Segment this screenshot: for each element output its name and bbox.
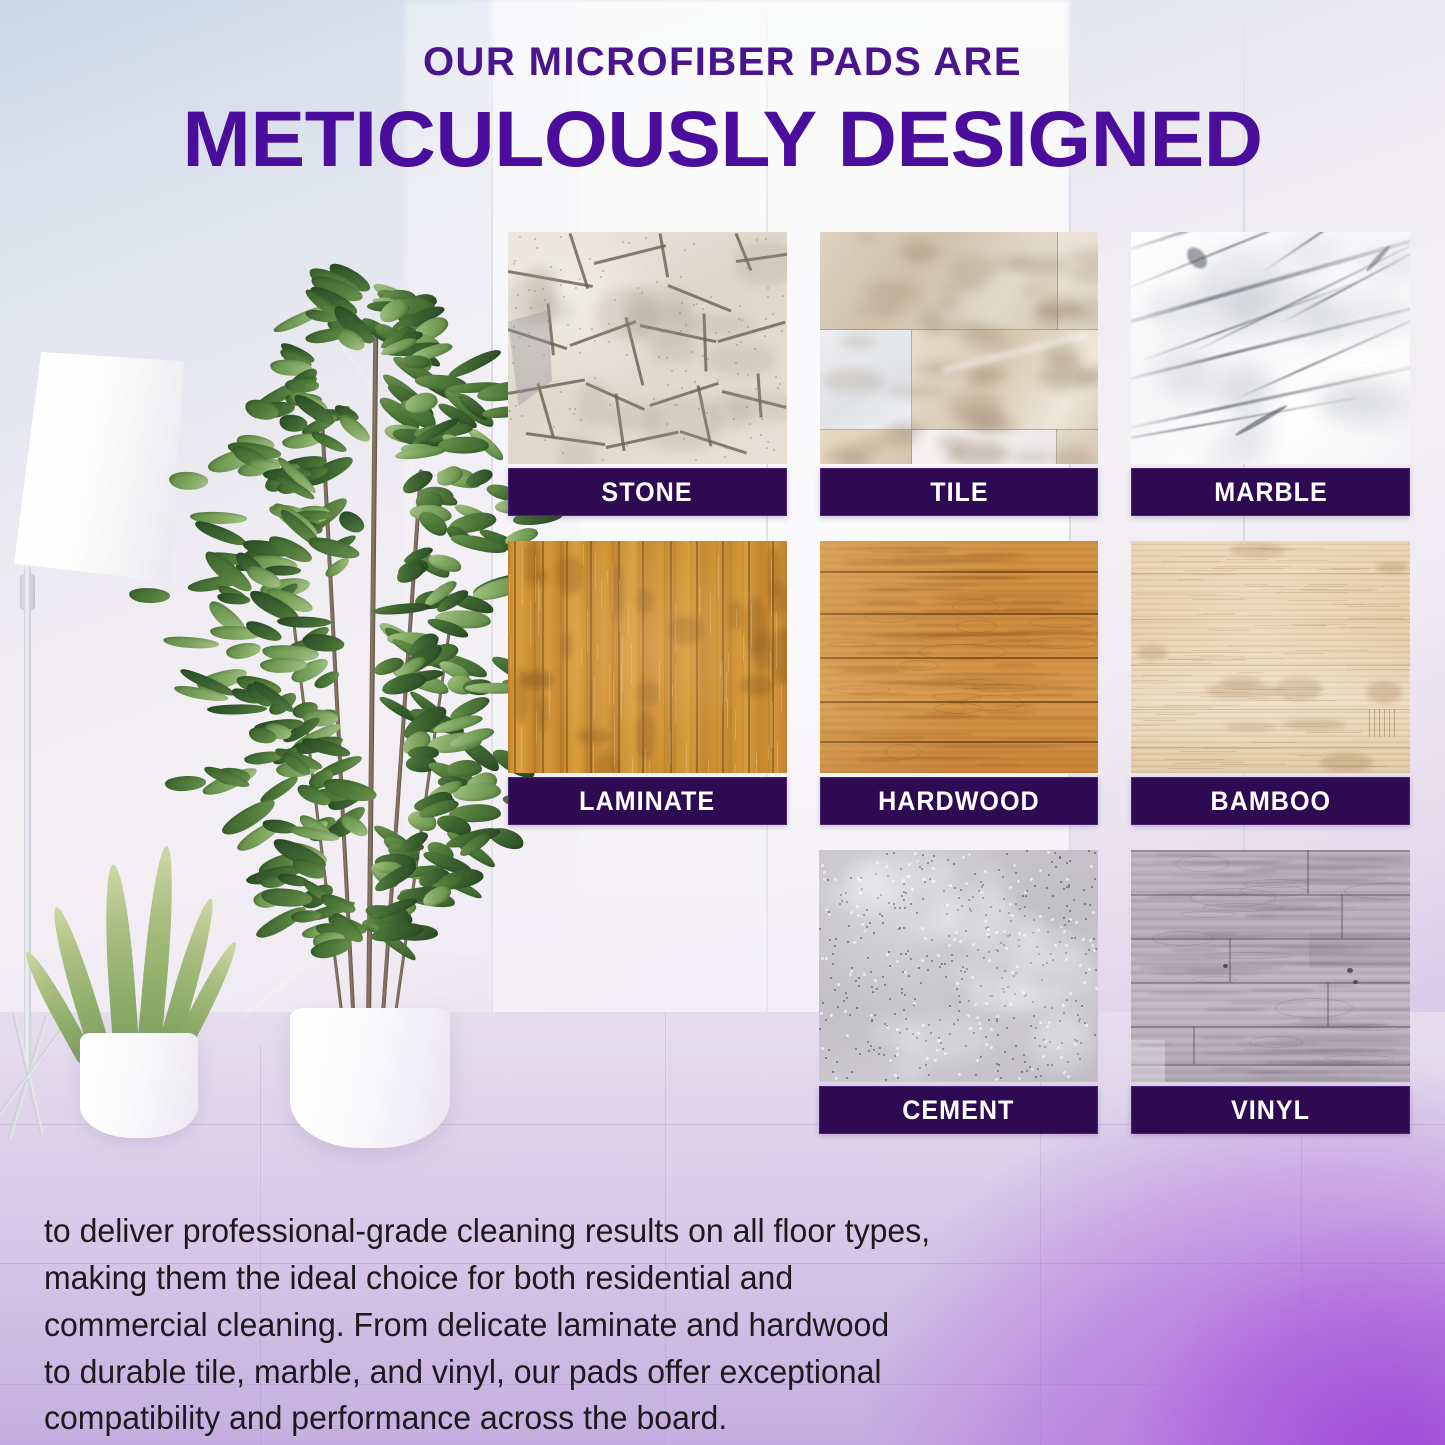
floor-type-grid: STONE TILE MARBLE LAMINATE HARDWOOD [508, 232, 1410, 1159]
floor-type-card-tile[interactable]: TILE [820, 232, 1099, 516]
marble-label-bar: MARBLE [1131, 468, 1410, 516]
vinyl-label: VINYL [1231, 1095, 1310, 1126]
body-line: compatibility and performance across the… [44, 1395, 1082, 1442]
vinyl-label-bar: VINYL [1131, 1086, 1410, 1134]
stone-label-bar: STONE [508, 468, 787, 516]
body-paragraph: to deliver professional-grade cleaning r… [44, 1208, 1082, 1442]
bamboo-swatch [1131, 541, 1410, 773]
floor-type-card-laminate[interactable]: LAMINATE [508, 541, 787, 825]
floor-type-row: CEMENT VINYL [508, 850, 1410, 1134]
hardwood-swatch [820, 541, 1099, 773]
bamboo-label-bar: BAMBOO [1131, 777, 1410, 825]
kicker-text: OUR MICROFIBER PADS ARE [0, 40, 1445, 84]
floor-type-card-vinyl[interactable]: VINYL [1131, 850, 1410, 1134]
floor-type-card-cement[interactable]: CEMENT [819, 850, 1098, 1134]
cement-label-bar: CEMENT [819, 1086, 1098, 1134]
heading-block: OUR MICROFIBER PADS ARE METICULOUSLY DES… [0, 40, 1445, 181]
tile-label-bar: TILE [820, 468, 1099, 516]
vinyl-swatch [1131, 850, 1410, 1082]
floor-type-card-hardwood[interactable]: HARDWOOD [820, 541, 1099, 825]
body-line: commercial cleaning. From delicate lamin… [44, 1302, 1082, 1349]
hardwood-label: HARDWOOD [878, 786, 1040, 817]
body-line: making them the ideal choice for both re… [44, 1255, 1082, 1302]
lamp-shade [14, 352, 184, 582]
marble-swatch [1131, 232, 1410, 464]
tile-swatch [820, 232, 1099, 464]
ficus-tree [176, 258, 556, 1148]
stone-label: STONE [602, 477, 693, 508]
stone-swatch [508, 232, 787, 464]
floor-type-row: LAMINATE HARDWOOD BAMBOO [508, 541, 1410, 825]
bamboo-label: BAMBOO [1210, 786, 1331, 817]
laminate-label: LAMINATE [579, 786, 715, 817]
tree-pot [290, 1008, 450, 1148]
floor-type-card-stone[interactable]: STONE [508, 232, 787, 516]
tile-label: TILE [930, 477, 989, 508]
lamp-pole [24, 566, 31, 1066]
floor-type-card-bamboo[interactable]: BAMBOO [1131, 541, 1410, 825]
page-title: METICULOUSLY DESIGNED [0, 98, 1445, 181]
cement-label: CEMENT [902, 1095, 1014, 1126]
marble-label: MARBLE [1214, 477, 1328, 508]
body-line: to deliver professional-grade cleaning r… [44, 1208, 1082, 1255]
laminate-label-bar: LAMINATE [508, 777, 787, 825]
cement-swatch [819, 850, 1098, 1082]
floor-type-card-marble[interactable]: MARBLE [1131, 232, 1410, 516]
hardwood-label-bar: HARDWOOD [820, 777, 1099, 825]
body-line: to durable tile, marble, and vinyl, our … [44, 1349, 1082, 1396]
laminate-swatch [508, 541, 787, 773]
floor-type-row: STONE TILE MARBLE [508, 232, 1410, 516]
